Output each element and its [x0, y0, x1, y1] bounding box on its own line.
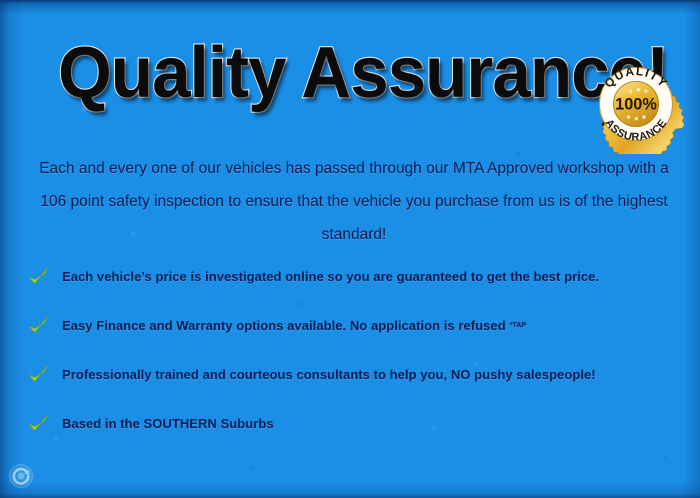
page-title: Quality Assurance!: [58, 26, 668, 120]
benefits-list: Each vehicle’s price is investigated onl…: [26, 252, 684, 448]
check-icon: [26, 314, 50, 338]
check-icon: [26, 265, 50, 289]
list-item: Each vehicle’s price is investigated onl…: [26, 252, 684, 301]
list-item-label: Based in the SOUTHERN Suburbs: [62, 416, 274, 431]
check-icon: [26, 363, 50, 387]
list-item-label: Easy Finance and Warranty options availa…: [62, 318, 506, 333]
list-item-label: Each vehicle’s price is investigated onl…: [62, 269, 599, 284]
list-item-label: Professionally trained and courteous con…: [62, 367, 596, 382]
list-item-note: *TAP: [510, 322, 526, 329]
quality-assurance-seal: QUALITY ASSURANCE 100%: [588, 54, 684, 154]
refresh-circle-icon: [8, 463, 34, 489]
intro-paragraph: Each and every one of our vehicles has p…: [30, 152, 678, 251]
list-item: Based in the SOUTHERN Suburbs: [26, 399, 684, 448]
list-item: Professionally trained and courteous con…: [26, 350, 684, 399]
quality-assurance-banner: Quality Assurance!: [0, 0, 700, 498]
check-icon: [26, 412, 50, 436]
seal-center-text: 100%: [615, 95, 657, 113]
list-item: Easy Finance and Warranty options availa…: [26, 301, 684, 350]
title-row: Quality Assurance!: [0, 26, 700, 130]
